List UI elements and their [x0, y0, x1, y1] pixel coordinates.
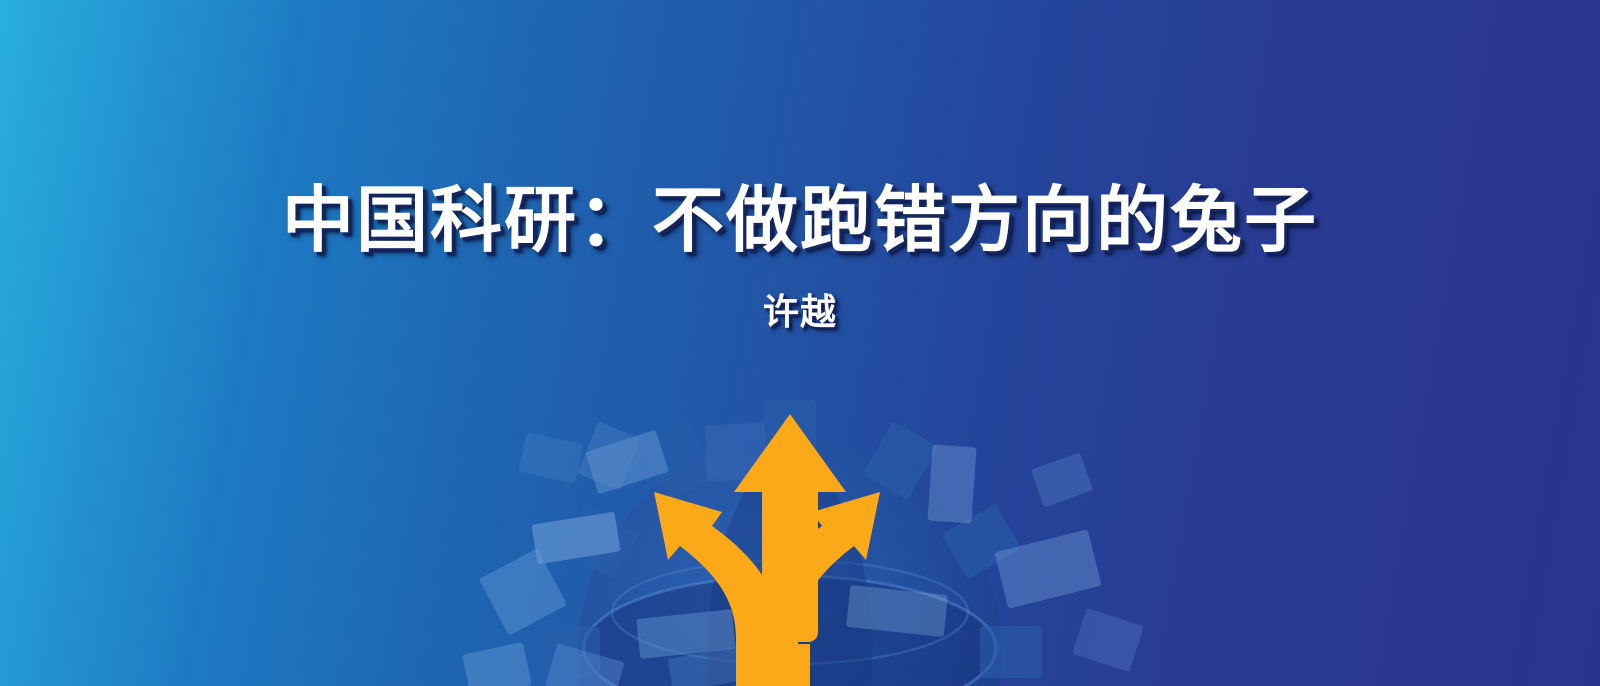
presentation-slide: 中国科研：不做跑错方向的兔子 许越	[0, 0, 1600, 686]
three-way-arrow-globe-graphic	[430, 400, 1150, 686]
